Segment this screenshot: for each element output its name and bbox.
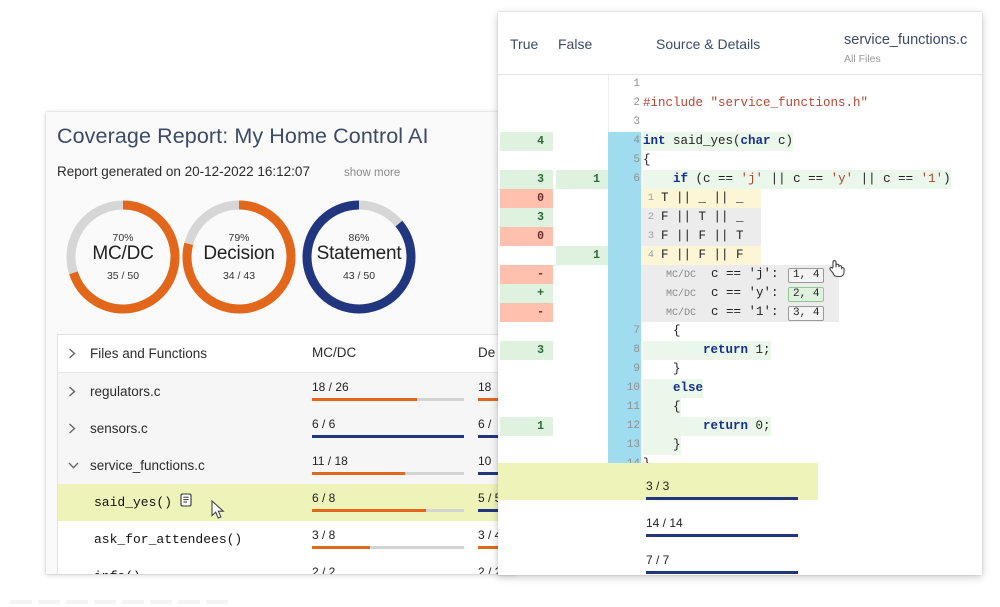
cutoff-stub bbox=[10, 600, 32, 604]
truth-table-row[interactable]: 03F || F || T bbox=[498, 227, 982, 246]
line-number: 4 bbox=[616, 132, 640, 151]
gutter-false-count bbox=[556, 227, 609, 246]
cutoff-stub bbox=[206, 600, 228, 604]
line-number: 12 bbox=[616, 417, 640, 436]
current-file-scope: All Files bbox=[844, 53, 881, 65]
source-panel-header: True False Source & Details service_func… bbox=[498, 12, 982, 75]
gutter-false-count bbox=[556, 379, 609, 398]
line-text: } bbox=[643, 436, 681, 455]
gutter-true-count: 1 bbox=[500, 417, 553, 436]
gutter-false-count bbox=[556, 151, 609, 170]
gutter-false-count: 1 bbox=[556, 170, 609, 189]
header-cell-mcdc: MC/DC bbox=[312, 335, 478, 372]
function-name-label: said_yes() bbox=[68, 495, 172, 510]
donut-mcdc-label: MC/DC bbox=[60, 243, 186, 265]
chevron-right-icon[interactable] bbox=[68, 348, 90, 359]
cutoff-stub bbox=[178, 600, 200, 604]
file-name-label: sensors.c bbox=[90, 421, 148, 436]
cell-mcdc-bar-fill bbox=[312, 435, 464, 438]
cell-mcdc-bar-fill bbox=[312, 472, 405, 475]
cell-decision-value: 6 / bbox=[478, 417, 491, 431]
row-name-cell[interactable]: service_functions.c bbox=[58, 458, 312, 473]
header-label-decision: De bbox=[478, 345, 495, 360]
mcdc-row-text: MC/DC c == 'y': 2, 4 bbox=[666, 284, 824, 303]
cell-statement-value: 7 / 7 bbox=[646, 553, 669, 567]
line-number: 11 bbox=[616, 398, 640, 417]
gutter-true-count: 0 bbox=[500, 189, 553, 208]
cell-statement-bar-track bbox=[646, 534, 798, 537]
column-header-true: True bbox=[510, 36, 538, 52]
gutter-false-count bbox=[556, 208, 609, 227]
line-text: { bbox=[643, 322, 681, 341]
files-and-functions-table: Files and Functions MC/DC De regulators.… bbox=[57, 334, 507, 574]
gutter-true-count: 4 bbox=[500, 132, 553, 151]
row-name-cell[interactable]: sensors.c bbox=[58, 421, 312, 436]
line-number: 9 bbox=[616, 360, 640, 379]
cell-mcdc-value: 3 / 8 bbox=[312, 528, 335, 542]
gutter-true-count bbox=[500, 75, 553, 94]
mcdc-tag: MC/DC bbox=[666, 289, 696, 300]
truth-row-values: F || F || F bbox=[661, 246, 744, 265]
donut-decision-fraction: 34 / 43 bbox=[176, 270, 302, 282]
report-timestamp: Report generated on 20-12-2022 16:12:07 bbox=[57, 164, 310, 179]
cell-statement: 3 / 3 bbox=[646, 472, 812, 509]
cell-statement-value: 14 / 14 bbox=[646, 516, 683, 530]
function-name-label: ask_for_attendees() bbox=[68, 532, 242, 547]
gutter-true-count: + bbox=[500, 284, 553, 303]
gutter-true-count bbox=[500, 322, 553, 341]
gutter-false-count bbox=[556, 436, 609, 455]
gutter-false-count bbox=[556, 341, 609, 360]
cell-mcdc-bar-fill bbox=[312, 398, 417, 401]
donut-decision-label: Decision bbox=[176, 243, 302, 265]
cell-mcdc-bar-track bbox=[312, 435, 464, 438]
donut-statement: 86% Statement 43 / 50 bbox=[296, 194, 422, 320]
gutter-true-count: 3 bbox=[500, 170, 553, 189]
table-row[interactable]: info()2 / 22 / 2 bbox=[58, 558, 506, 574]
gutter-false-count: 1 bbox=[556, 246, 609, 265]
mcdc-row-text: MC/DC c == 'j': 1, 4 bbox=[666, 265, 824, 284]
truth-row-index: 4 bbox=[628, 246, 654, 265]
cell-statement-bar-fill bbox=[646, 534, 798, 537]
line-text: } bbox=[643, 360, 681, 379]
cutoff-stub bbox=[94, 600, 116, 604]
gutter-true-count: 3 bbox=[500, 341, 553, 360]
table-row[interactable]: regulators.c18 / 2618 bbox=[58, 373, 506, 410]
gutter-true-count: 3 bbox=[500, 208, 553, 227]
cell-mcdc-value: 18 / 26 bbox=[312, 380, 349, 394]
code-line[interactable]: 11 { bbox=[498, 398, 982, 417]
truth-row-index: 3 bbox=[628, 227, 654, 246]
gutter-true-count bbox=[500, 151, 553, 170]
gutter-true-count bbox=[500, 379, 553, 398]
cell-statement-bar-fill bbox=[646, 571, 798, 574]
gutter-false-count bbox=[556, 417, 609, 436]
line-number: 7 bbox=[616, 322, 640, 341]
cell-mcdc-value: 2 / 2 bbox=[312, 565, 335, 574]
coverage-marker bbox=[608, 303, 641, 322]
gutter-false-count bbox=[556, 360, 609, 379]
code-line[interactable]: 10 else bbox=[498, 379, 982, 398]
code-line[interactable]: 7 { bbox=[498, 322, 982, 341]
gutter-false-count bbox=[556, 189, 609, 208]
line-number: 8 bbox=[616, 341, 640, 360]
donut-statement-label: Statement bbox=[296, 243, 422, 265]
function-name-label: info() bbox=[68, 569, 141, 574]
truth-row-values: F || F || T bbox=[661, 227, 744, 246]
mcdc-pair-box[interactable]: 3, 4 bbox=[788, 306, 824, 321]
code-line[interactable]: 9 } bbox=[498, 360, 982, 379]
chevron-down-icon[interactable] bbox=[68, 461, 90, 470]
line-text: { bbox=[643, 151, 651, 170]
line-number: 5 bbox=[616, 151, 640, 170]
cell-mcdc-bar-track bbox=[312, 546, 464, 549]
truth-table-row[interactable]: 14F || F || F bbox=[498, 246, 982, 265]
gutter-true-count bbox=[500, 398, 553, 417]
gutter-true-count bbox=[500, 94, 553, 113]
mcdc-pair-row[interactable]: -MC/DC c == '1': 3, 4 bbox=[498, 303, 982, 322]
row-name-cell[interactable]: regulators.c bbox=[58, 384, 312, 399]
cell-mcdc-value: 6 / 6 bbox=[312, 417, 335, 431]
cell-statement-value: 3 / 3 bbox=[646, 479, 669, 493]
cell-decision-value: 10 bbox=[478, 454, 491, 468]
donut-mcdc: 70% MC/DC 35 / 50 bbox=[60, 194, 186, 320]
bottom-cutoff-strip bbox=[0, 591, 1000, 607]
chevron-right-icon[interactable] bbox=[68, 423, 90, 434]
mcdc-pair-box[interactable]: 2, 4 bbox=[788, 287, 824, 302]
cell-statement-bar-track bbox=[646, 497, 798, 500]
line-number: 13 bbox=[616, 436, 640, 455]
gutter-false-count bbox=[556, 284, 609, 303]
line-text: int said_yes(char c) bbox=[643, 132, 793, 151]
coverage-report-card: Coverage Report: My Home Control AI Repo… bbox=[46, 112, 516, 574]
gutter-true-count bbox=[500, 436, 553, 455]
line-text: { bbox=[643, 398, 681, 417]
gutter-false-count bbox=[556, 398, 609, 417]
line-text: else bbox=[643, 379, 703, 398]
document-icon[interactable] bbox=[180, 493, 192, 512]
gutter-true-count bbox=[500, 113, 553, 132]
cell-statement-bar-track bbox=[646, 571, 798, 574]
line-number: 1 bbox=[616, 75, 640, 94]
donut-mcdc-fraction: 35 / 50 bbox=[60, 270, 186, 282]
donut-decision: 79% Decision 34 / 43 bbox=[176, 194, 302, 320]
cell-mcdc-value: 11 / 18 bbox=[312, 454, 348, 468]
column-header-source: Source & Details bbox=[656, 36, 760, 52]
row-name-cell[interactable]: ask_for_attendees() bbox=[58, 532, 312, 547]
truth-table-row[interactable]: 32F || T || _ bbox=[498, 208, 982, 227]
gutter-false-count bbox=[556, 303, 609, 322]
page-title: Coverage Report: My Home Control AI bbox=[57, 124, 429, 149]
line-text: return 0; bbox=[643, 417, 771, 436]
line-text: #include "service_functions.h" bbox=[643, 94, 868, 113]
code-line[interactable]: 316 if (c == 'j' || c == 'y' || c == '1'… bbox=[498, 170, 982, 189]
cell-statement-bar-fill bbox=[646, 497, 798, 500]
gutter-true-count bbox=[500, 360, 553, 379]
gutter-false-count bbox=[556, 75, 609, 94]
table-row[interactable]: service_functions.c11 / 1810 bbox=[58, 447, 506, 484]
cutoff-stub bbox=[66, 600, 88, 604]
cell-mcdc-bar-track bbox=[312, 398, 464, 401]
cutoff-stub bbox=[122, 600, 144, 604]
gutter-false-count bbox=[556, 113, 609, 132]
header-cell-name: Files and Functions bbox=[58, 346, 312, 361]
gutter-false-count bbox=[556, 132, 609, 151]
cell-mcdc: 6 / 6 bbox=[312, 410, 478, 447]
cell-decision-value: 18 bbox=[478, 380, 491, 394]
gutter-true-count: - bbox=[500, 265, 553, 284]
table-row[interactable]: ask_for_attendees()3 / 83 / 4 bbox=[58, 521, 506, 558]
gutter-false-count bbox=[556, 322, 609, 341]
file-name-label: service_functions.c bbox=[90, 458, 205, 473]
truth-table-row[interactable]: 01T || _ || _ bbox=[498, 189, 982, 208]
truth-row-index: 2 bbox=[628, 208, 654, 227]
gutter-true-count: - bbox=[500, 303, 553, 322]
code-line[interactable]: 112 return 0; bbox=[498, 417, 982, 436]
cell-mcdc: 18 / 26 bbox=[312, 373, 478, 410]
show-more-link[interactable]: show more bbox=[344, 167, 400, 179]
cutoff-stub bbox=[150, 600, 172, 604]
gutter-true-count bbox=[500, 246, 553, 265]
current-file-name: service_functions.c bbox=[844, 32, 967, 48]
table-header-row: Files and Functions MC/DC De bbox=[58, 335, 506, 373]
line-text: return 1; bbox=[643, 341, 771, 360]
coverage-marker bbox=[608, 265, 641, 284]
code-line[interactable]: 44int said_yes(char c) bbox=[498, 132, 982, 151]
truth-row-values: F || T || _ bbox=[661, 208, 744, 227]
mcdc-pair-row[interactable]: -MC/DC c == 'j': 1, 4 bbox=[498, 265, 982, 284]
mcdc-tag: MC/DC bbox=[666, 270, 696, 281]
gutter-false-count bbox=[556, 265, 609, 284]
gutter-false-count bbox=[556, 94, 609, 113]
code-line[interactable]: 3 bbox=[498, 113, 982, 132]
cell-mcdc: 11 / 18 bbox=[312, 447, 478, 484]
line-number: 10 bbox=[616, 379, 640, 398]
mcdc-pair-box[interactable]: 1, 4 bbox=[788, 268, 824, 283]
line-number: 2 bbox=[616, 94, 640, 113]
cell-mcdc-bar-fill bbox=[312, 509, 426, 512]
mcdc-row-text: MC/DC c == '1': 3, 4 bbox=[666, 303, 824, 322]
cell-statement: 14 / 14 bbox=[646, 509, 812, 546]
truth-row-index: 1 bbox=[628, 189, 654, 208]
code-line[interactable]: 2#include "service_functions.h" bbox=[498, 94, 982, 113]
line-text: if (c == 'j' || c == 'y' || c == '1') bbox=[643, 170, 951, 189]
cell-mcdc: 2 / 2 bbox=[312, 558, 478, 574]
table-body: regulators.c18 / 2618sensors.c6 / 66 /se… bbox=[58, 373, 506, 574]
table-row[interactable]: said_yes()6 / 85 / 5 bbox=[58, 484, 506, 521]
donut-statement-fraction: 43 / 50 bbox=[296, 270, 422, 282]
gutter-true-count: 0 bbox=[500, 227, 553, 246]
cell-mcdc-bar-track bbox=[312, 509, 464, 512]
cell-mcdc-bar-fill bbox=[312, 546, 370, 549]
cutoff-stub bbox=[38, 600, 60, 604]
row-name-cell[interactable]: said_yes() bbox=[58, 493, 312, 512]
cell-mcdc: 3 / 8 bbox=[312, 521, 478, 558]
cell-mcdc-value: 6 / 8 bbox=[312, 491, 335, 505]
cell-mcdc-bar-track bbox=[312, 472, 464, 475]
file-name-label: regulators.c bbox=[90, 384, 161, 399]
truth-row-values: T || _ || _ bbox=[661, 189, 744, 208]
line-number: 3 bbox=[616, 113, 640, 132]
line-number: 6 bbox=[616, 170, 640, 189]
cell-statement: 7 / 7 bbox=[646, 546, 812, 583]
code-line[interactable]: 1 bbox=[498, 75, 982, 94]
mcdc-tag: MC/DC bbox=[666, 308, 696, 319]
code-line[interactable]: 5{ bbox=[498, 151, 982, 170]
header-label-mcdc: MC/DC bbox=[312, 345, 356, 360]
table-row[interactable]: sensors.c6 / 66 / bbox=[58, 410, 506, 447]
row-name-cell[interactable]: info() bbox=[58, 569, 312, 574]
code-line[interactable]: 38 return 1; bbox=[498, 341, 982, 360]
cell-mcdc: 6 / 8 bbox=[312, 484, 478, 521]
chevron-right-icon[interactable] bbox=[68, 386, 90, 397]
mcdc-pair-row[interactable]: +MC/DC c == 'y': 2, 4 bbox=[498, 284, 982, 303]
code-line[interactable]: 13 } bbox=[498, 436, 982, 455]
column-header-false: False bbox=[558, 36, 592, 52]
header-label-files: Files and Functions bbox=[90, 346, 207, 361]
coverage-marker bbox=[608, 284, 641, 303]
